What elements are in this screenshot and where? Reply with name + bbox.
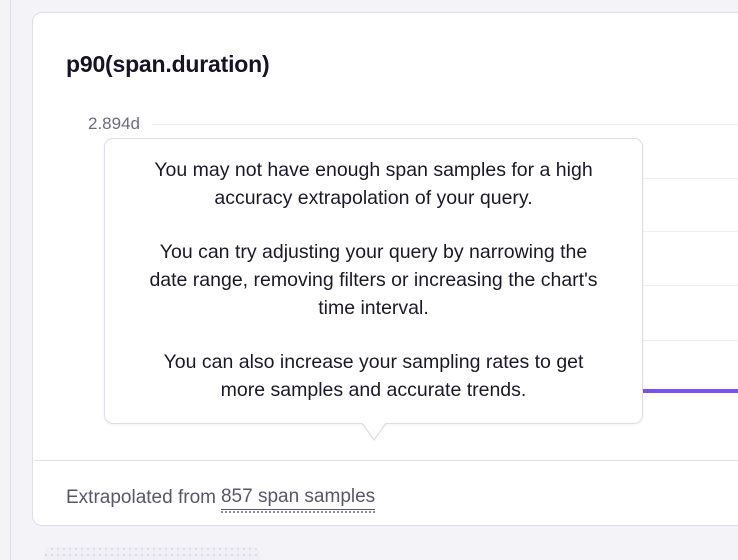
card-divider (34, 460, 738, 461)
low-sample-warning-tooltip: You may not have enough span samples for… (104, 138, 643, 424)
chart-footer: Extrapolated from 857 span samples (66, 476, 375, 520)
page-title: p90(span.duration) (66, 51, 269, 78)
span-samples-link[interactable]: 857 span samples (221, 486, 375, 510)
tooltip-paragraph-3: You can also increase your sampling rate… (139, 348, 608, 404)
footer-prefix-label: Extrapolated from (66, 487, 216, 509)
next-widget-skeleton (44, 547, 260, 560)
gridline (152, 124, 738, 125)
page-left-rail (10, 0, 11, 560)
tooltip-paragraph-2: You can try adjusting your query by narr… (139, 238, 608, 322)
tooltip-paragraph-1: You may not have enough span samples for… (139, 156, 608, 212)
app-root: p90(span.duration) 2.894d 2 1 1 13.8 Au (0, 0, 738, 560)
tooltip-arrow-fill-icon (362, 422, 386, 439)
y-axis-tick: 2.894d (30, 114, 140, 134)
chart-header: p90(span.duration) (66, 47, 269, 81)
